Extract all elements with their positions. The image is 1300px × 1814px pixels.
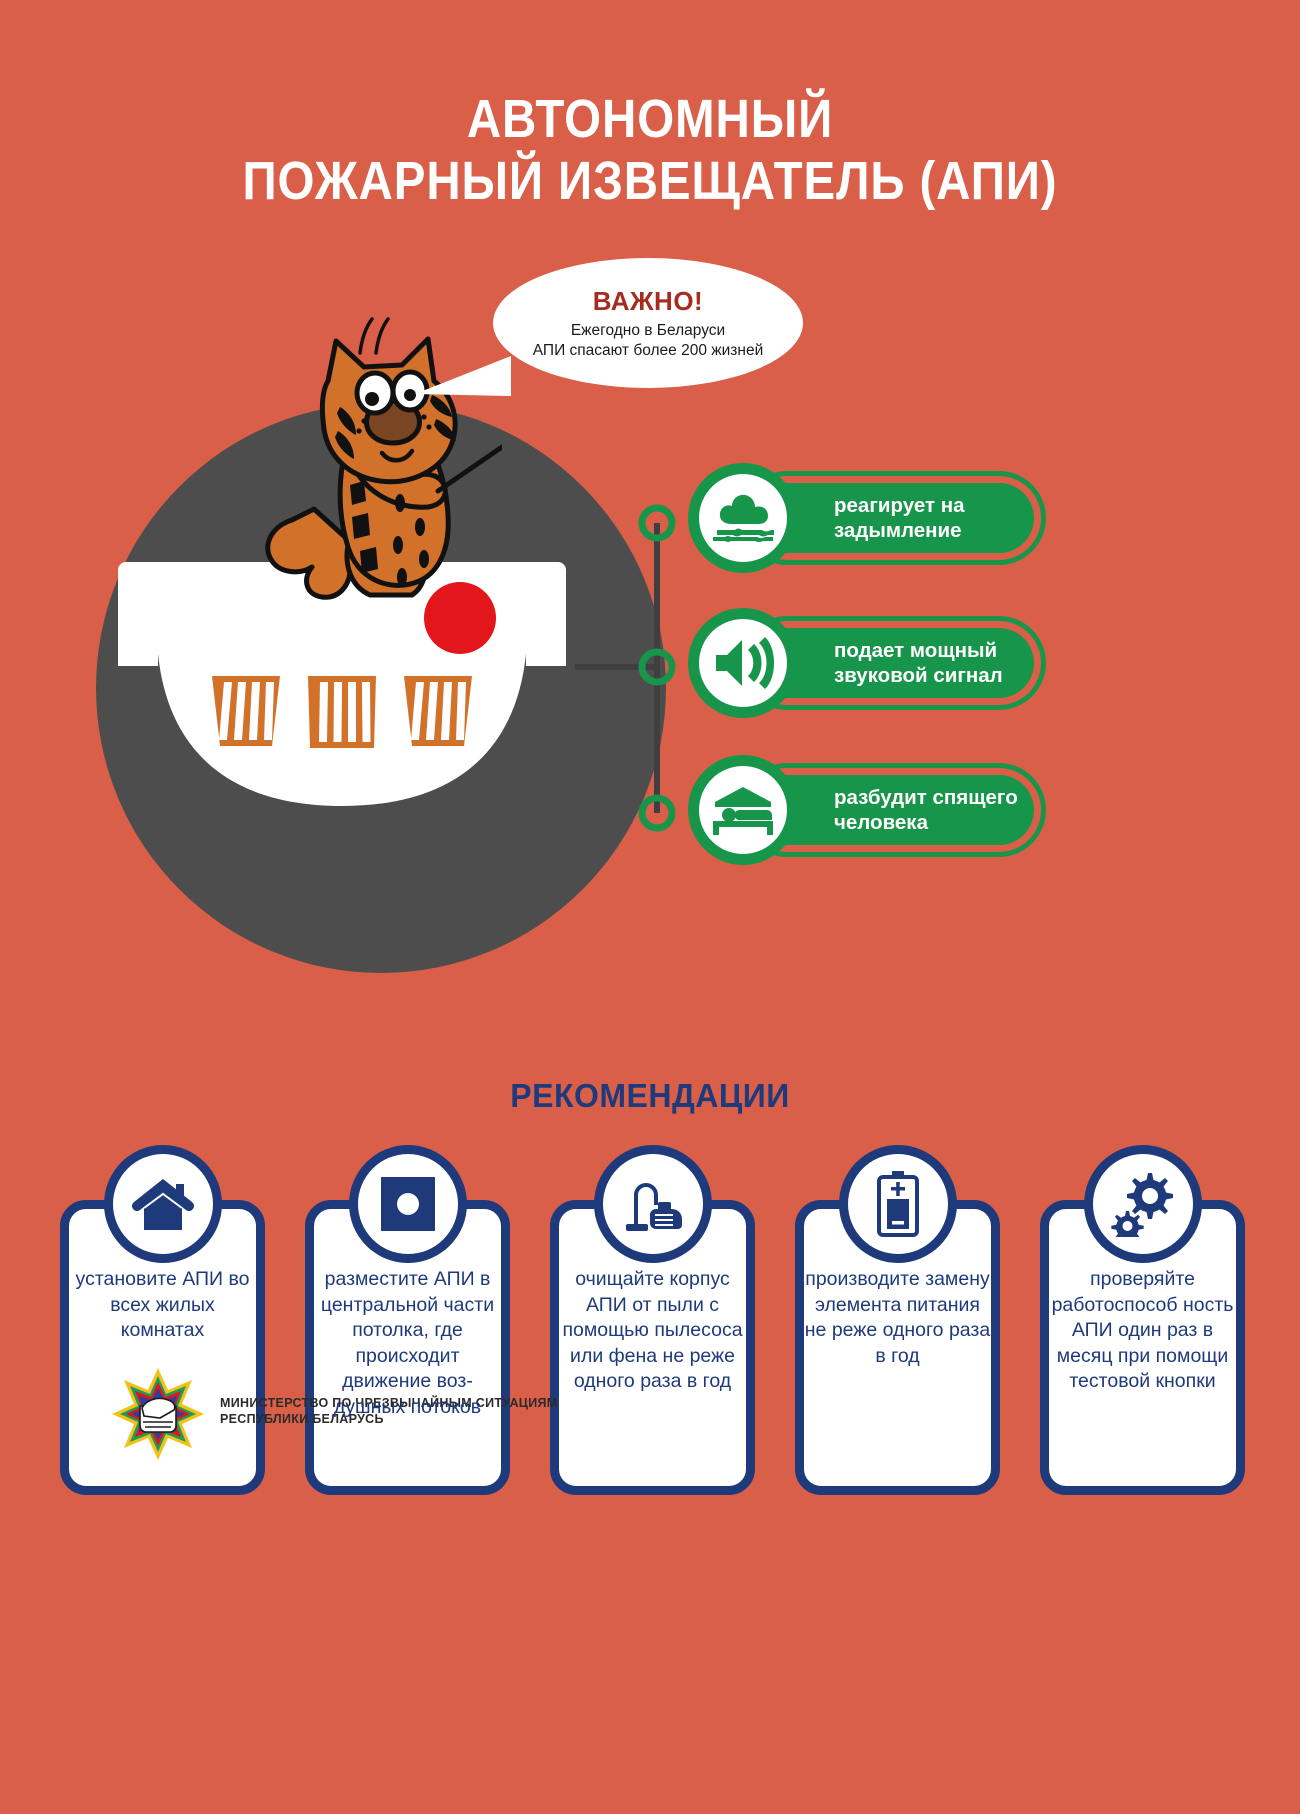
feature-label-line-1: реагирует на xyxy=(834,494,965,517)
card-icon-badge xyxy=(104,1145,222,1263)
card-text: производите замену элемента питания не р… xyxy=(803,1267,992,1369)
feature-pill-wake[interactable]: разбудит спящего человека xyxy=(688,755,1048,865)
gears-icon xyxy=(1110,1171,1176,1237)
card-text: установите АПИ во всех жилых комнатах xyxy=(68,1267,257,1344)
pill-icon-badge xyxy=(688,755,798,865)
page-title: АВТОНОМНЫЙ ПОЖАРНЫЙ ИЗВЕЩАТЕЛЬ (АПИ) xyxy=(78,88,1222,212)
card-text: проверяйте работоспособ ность АПИ один р… xyxy=(1048,1267,1237,1395)
bubble-line-1: Ежегодно в Беларуси xyxy=(571,321,725,341)
feature-pill-smoke[interactable]: реагирует на задымление xyxy=(688,463,1048,573)
card-icon-badge xyxy=(839,1145,957,1263)
title-line-1: АВТОНОМНЫЙ xyxy=(467,89,833,149)
feature-label-line-2: звуковой сигнал xyxy=(834,664,1003,687)
bubble-line-2: АПИ спасают более 200 жизней xyxy=(533,341,763,361)
house-icon xyxy=(132,1176,194,1232)
feature-label-line-1: разбудит спящего xyxy=(834,786,1018,809)
feature-label-line-1: подает мощный xyxy=(834,639,997,662)
pill-icon-badge xyxy=(688,463,798,573)
recommendations-heading: РЕКОМЕНДАЦИИ xyxy=(20,1077,1281,1115)
important-callout-bubble: ВАЖНО! Ежегодно в Беларуси АПИ спасают б… xyxy=(493,258,803,388)
vacuum-cleaner-icon xyxy=(622,1173,684,1235)
battery-icon xyxy=(877,1171,919,1237)
feature-pill-sound[interactable]: подает мощный звуковой сигнал xyxy=(688,608,1048,718)
card-text: разместите АПИ в центральной части потол… xyxy=(313,1267,502,1420)
pill-icon-badge xyxy=(688,608,798,718)
card-icon-badge xyxy=(349,1145,467,1263)
card-text: очищайте корпус АПИ от пыли с помощью пы… xyxy=(558,1267,747,1395)
ceiling-detector-icon xyxy=(379,1175,437,1233)
cat-mascot-illustration xyxy=(252,295,502,615)
sleeping-person-bed-icon xyxy=(711,784,775,836)
card-icon-badge xyxy=(594,1145,712,1263)
recommendation-card[interactable]: производите замену элемента питания не р… xyxy=(795,1145,1000,1495)
poster-root: АВТОНОМНЫЙ ПОЖАРНЫЙ ИЗВЕЩАТЕЛЬ (АПИ) xyxy=(0,0,1300,1814)
recommendation-card[interactable]: проверяйте работоспособ ность АПИ один р… xyxy=(1040,1145,1245,1495)
smoke-cloud-icon xyxy=(711,492,775,544)
loud-speaker-icon xyxy=(712,636,774,690)
feature-connector-lines xyxy=(575,495,695,840)
bubble-heading: ВАЖНО! xyxy=(593,286,703,316)
feature-label-line-2: человека xyxy=(834,811,928,834)
title-line-2: ПОЖАРНЫЙ ИЗВЕЩАТЕЛЬ (АПИ) xyxy=(78,150,1222,212)
feature-label-line-2: задымление xyxy=(834,519,962,542)
mchs-emblem-logo xyxy=(110,1366,206,1462)
card-icon-badge xyxy=(1084,1145,1202,1263)
